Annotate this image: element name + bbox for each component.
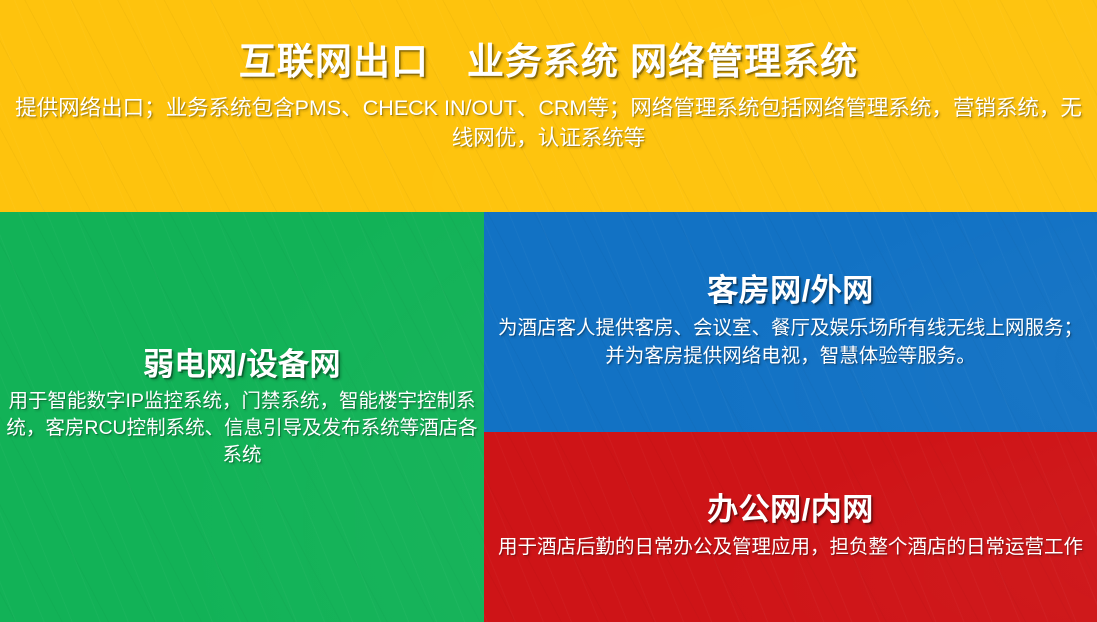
panel-weak-current-title: 弱电网/设备网	[143, 348, 341, 382]
panel-internet-description: 提供网络出口；业务系统包含PMS、CHECK IN/OUT、CRM等；网络管理系…	[6, 93, 1091, 154]
panel-office-internal-network: 办公网/内网 用于酒店后勤的日常办公及管理应用，担负整个酒店的日常运营工作	[484, 432, 1097, 622]
panel-internet-egress: 互联网出口 业务系统 网络管理系统 提供网络出口；业务系统包含PMS、CHECK…	[0, 0, 1097, 212]
panel-weak-current-description: 用于智能数字IP监控系统，门禁系统，智能楼宇控制系统，客房RCU控制系统、信息引…	[3, 388, 481, 469]
panel-internet-title: 互联网出口 业务系统 网络管理系统	[239, 42, 858, 83]
panel-guest-room-network: 客房网/外网 为酒店客人提供客房、会议室、餐厅及娱乐场所有线无线上网服务；并为客…	[484, 212, 1097, 432]
panel-office-title: 办公网/内网	[707, 493, 874, 527]
panel-guest-room-title: 客房网/外网	[707, 274, 874, 308]
panel-guest-room-description: 为酒店客人提供客房、会议室、餐厅及娱乐场所有线无线上网服务；并为客房提供网络电视…	[491, 315, 1091, 370]
panel-office-description: 用于酒店后勤的日常办公及管理应用，担负整个酒店的日常运营工作	[491, 534, 1091, 561]
network-zone-diagram: 互联网出口 业务系统 网络管理系统 提供网络出口；业务系统包含PMS、CHECK…	[0, 0, 1097, 622]
panel-weak-current-network: 弱电网/设备网 用于智能数字IP监控系统，门禁系统，智能楼宇控制系统，客房RCU…	[0, 212, 484, 622]
